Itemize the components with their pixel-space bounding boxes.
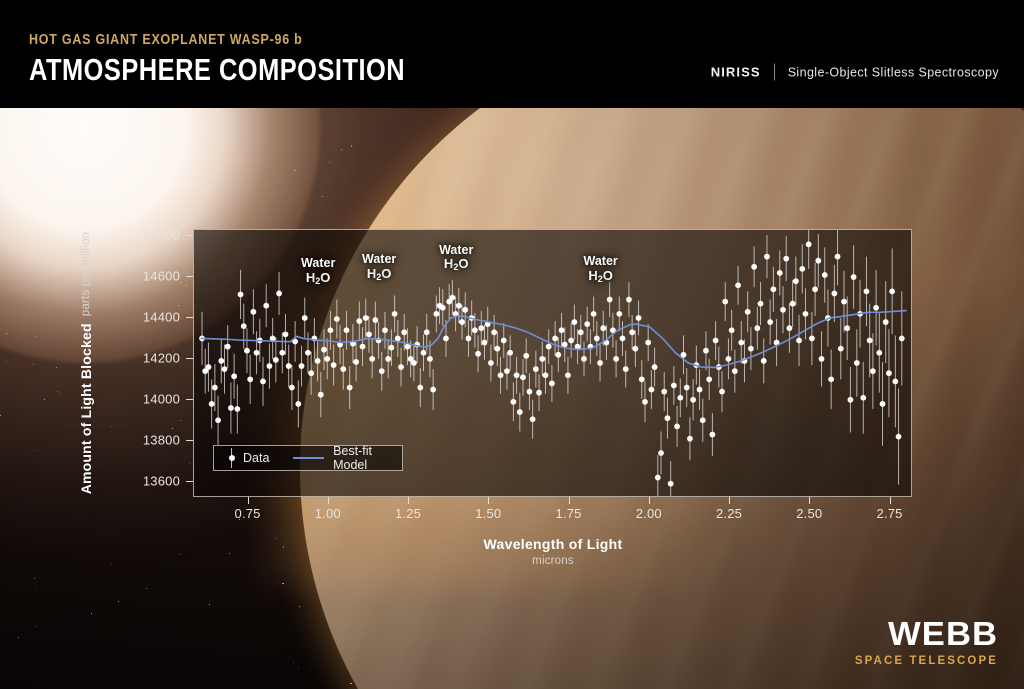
illustration-stage: 13600138001400014200144001460014800 0.75… <box>0 108 1024 689</box>
x-tick-mark <box>248 497 249 504</box>
page-title: ATMOSPHERE COMPOSITION <box>29 52 405 88</box>
model-polyline <box>200 311 906 368</box>
eyebrow-subject: HOT GAS GIANT EXOPLANET WASP-96 b <box>29 32 303 48</box>
line-swatch-icon <box>293 457 324 459</box>
spectrum-chart: 13600138001400014200144001460014800 0.75… <box>0 108 1024 689</box>
y-tick-mark <box>186 317 193 318</box>
legend-item-data: Data <box>227 448 269 468</box>
y-tick-mark <box>186 440 193 441</box>
x-axis-label-units: microns <box>484 555 623 567</box>
x-tick-label: 2.50 <box>796 506 822 521</box>
x-tick-mark <box>809 497 810 504</box>
header-band: HOT GAS GIANT EXOPLANET WASP-96 b ATMOSP… <box>0 0 1024 108</box>
annotation-water: WaterH2O <box>439 243 473 272</box>
annotation-formula: H2O <box>362 267 396 282</box>
y-tick-label: 14400 <box>143 309 180 324</box>
x-axis-label-main: Wavelength of Light <box>484 536 623 552</box>
annotation-water: WaterH2O <box>301 256 335 285</box>
observing-mode: Single-Object Slitless Spectroscopy <box>788 65 999 79</box>
y-tick-mark <box>186 481 193 482</box>
x-tick-label: 1.50 <box>475 506 501 521</box>
x-tick-label: 1.25 <box>395 506 421 521</box>
instrument-name: NIRISS <box>711 65 761 80</box>
x-tick-mark <box>408 497 409 504</box>
x-tick-mark <box>649 497 650 504</box>
instrument-credit: NIRISS Single-Object Slitless Spectrosco… <box>711 64 999 81</box>
y-tick-mark <box>186 235 193 236</box>
annotation-formula: H2O <box>439 257 473 272</box>
x-tick-label: 0.75 <box>235 506 261 521</box>
y-tick-label: 13600 <box>143 473 180 488</box>
legend-item-model: Best-fit Model <box>293 444 402 472</box>
x-tick-mark <box>729 497 730 504</box>
x-tick-label: 2.75 <box>876 506 902 521</box>
legend-label-model: Best-fit Model <box>333 444 402 472</box>
y-axis-label-main: Amount of Light Blocked <box>78 323 94 494</box>
data-point-icon <box>227 448 236 468</box>
annotation-formula: H2O <box>584 269 618 284</box>
webb-logo: WEBB SPACE TELESCOPE <box>855 617 998 667</box>
y-axis-label: Amount of Light Blocked parts per millio… <box>78 232 94 495</box>
y-tick-label: 14800 <box>143 228 180 243</box>
x-tick-mark <box>569 497 570 504</box>
y-tick-label: 14000 <box>143 391 180 406</box>
annotation-water: WaterH2O <box>362 252 396 281</box>
annotation-water: WaterH2O <box>584 254 618 283</box>
legend-label-data: Data <box>243 451 269 465</box>
y-tick-mark <box>186 399 193 400</box>
divider <box>774 64 775 81</box>
webb-tagline: SPACE TELESCOPE <box>855 655 998 667</box>
x-axis-label: Wavelength of Light microns <box>484 536 623 567</box>
y-tick-mark <box>186 276 193 277</box>
webb-wordmark: WEBB <box>848 617 998 650</box>
x-tick-label: 1.75 <box>555 506 581 521</box>
chart-legend: Data Best-fit Model <box>213 445 403 471</box>
x-tick-label: 1.00 <box>315 506 341 521</box>
y-tick-label: 13800 <box>143 432 180 447</box>
y-tick-label: 14600 <box>143 269 180 284</box>
y-axis-label-units: parts per million <box>80 232 92 317</box>
x-tick-label: 2.00 <box>636 506 662 521</box>
y-tick-label: 14200 <box>143 350 180 365</box>
x-tick-mark <box>488 497 489 504</box>
annotation-formula: H2O <box>301 271 335 286</box>
x-tick-label: 2.25 <box>716 506 742 521</box>
x-tick-mark <box>890 497 891 504</box>
y-tick-mark <box>186 358 193 359</box>
x-tick-mark <box>328 497 329 504</box>
